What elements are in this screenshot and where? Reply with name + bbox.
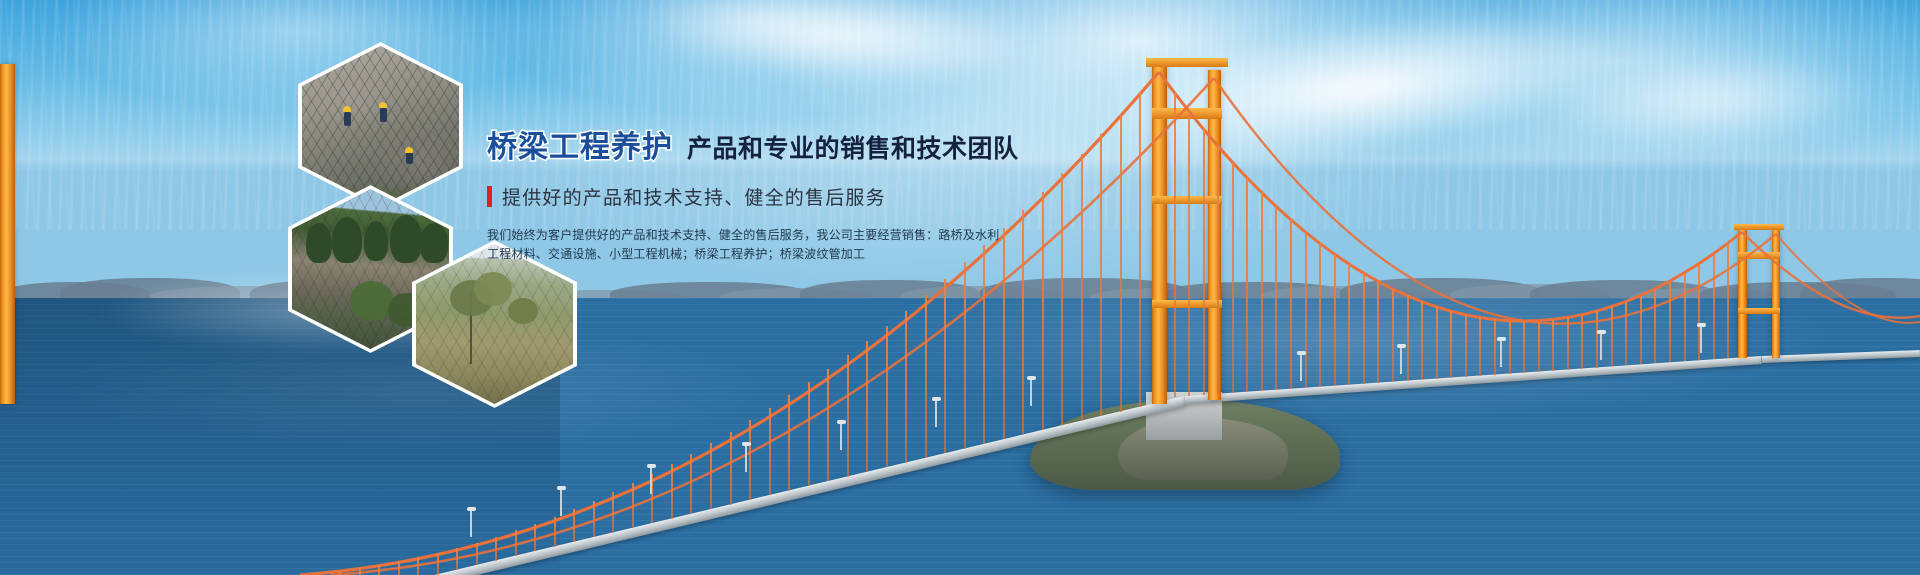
bridge-hanger — [1319, 243, 1321, 387]
bridge-hanger — [886, 326, 888, 467]
bridge-hanger — [1684, 273, 1686, 361]
bridge-hanger — [808, 382, 810, 486]
bridge-hanger — [476, 543, 478, 566]
bridge-hanger — [1509, 321, 1511, 374]
bridge-tower-far-top — [1734, 224, 1784, 230]
bridge-hanger — [1596, 311, 1598, 367]
bridge-hanger — [378, 565, 380, 575]
tree-canopy — [508, 298, 538, 324]
bridge-hanger — [1217, 145, 1219, 394]
bridge-hanger — [359, 568, 361, 575]
bridge-hanger — [1305, 231, 1307, 387]
bridge-tower-crossbeam — [1152, 108, 1222, 119]
bridge-hanger — [1363, 273, 1365, 384]
bridge-hanger — [1203, 128, 1205, 395]
hex-photo — [416, 244, 573, 404]
tree — [364, 221, 388, 261]
bridge-tower-top — [1146, 58, 1228, 67]
worker-figure — [380, 108, 387, 122]
headline-row: 桥梁工程养护 产品和专业的销售和技术团队 — [487, 122, 1107, 166]
subheadline-row: 提供好的产品和技术支持、健全的售后服务 — [487, 183, 1107, 210]
description-line-2: 工程材料、交通设施、小型工程机械；桥梁工程养护；桥梁波纹管加工 — [487, 245, 1107, 264]
bridge-hanger — [1377, 281, 1379, 383]
bridge-hanger — [1290, 219, 1292, 389]
bridge-tower-far — [1772, 230, 1780, 358]
grass-slope-mesh-photo — [416, 244, 573, 404]
bridge-hanger — [1261, 192, 1263, 391]
bridge-hanger — [944, 279, 946, 454]
bridge-hanger — [769, 408, 771, 495]
bridge-hanger — [1523, 321, 1525, 372]
bridge-lamp-post — [1400, 348, 1402, 374]
bridge-hanger — [1174, 92, 1176, 397]
bridge-hanger — [671, 464, 673, 519]
bridge-hanger — [1611, 307, 1613, 367]
bridge-lamp-post — [1300, 355, 1302, 381]
bridge-lamp-post — [935, 401, 937, 427]
tree — [420, 223, 448, 263]
hero-copy: 桥梁工程养护 产品和专业的销售和技术团队 提供好的产品和技术支持、健全的售后服务… — [487, 122, 1107, 264]
bridge-hanger — [1552, 320, 1554, 371]
bridge-hanger — [593, 501, 595, 537]
hex-photo — [302, 46, 459, 206]
bridge-hanger — [905, 311, 907, 463]
helmet-icon — [343, 106, 351, 112]
bridge-hanger — [730, 432, 732, 505]
bridge-hanger — [495, 537, 497, 561]
bridge-tower-main — [0, 64, 15, 404]
helmet-icon — [379, 102, 387, 108]
bridge-hanger — [632, 483, 634, 528]
bridge-hanger — [1436, 307, 1438, 379]
bridge-hanger — [437, 553, 439, 575]
bridge-lamp-post — [560, 490, 562, 516]
bridge-hanger — [964, 262, 966, 448]
bridge-hanger — [1669, 282, 1671, 363]
hero-banner: 桥梁工程养护 产品和专业的销售和技术团队 提供好的产品和技术支持、健全的售后服务… — [0, 0, 1920, 575]
tree-canopy — [474, 272, 512, 306]
bridge-lamp-post — [1030, 380, 1032, 406]
bridge-tower-far — [1738, 228, 1747, 358]
headline-secondary: 产品和专业的销售和技术团队 — [687, 129, 1019, 165]
bridge-hanger — [534, 524, 536, 552]
bridge-hanger — [827, 369, 829, 481]
worker-figure — [406, 152, 413, 164]
bridge-hanger — [1421, 301, 1423, 379]
bridge-lamp-post — [1600, 334, 1602, 360]
bridge-hanger — [1567, 318, 1569, 370]
bridge-hanger — [749, 420, 751, 500]
bridge-hanger — [1450, 311, 1452, 378]
tree — [390, 215, 422, 263]
headline-primary: 桥梁工程养护 — [487, 122, 673, 166]
description-paragraph: 我们始终为客户提供好的产品和技术支持、健全的售后服务，我公司主要经营销售：路桥及… — [487, 226, 1107, 264]
bridge-hanger — [573, 509, 575, 542]
bridge-tower-far-crossbeam — [1738, 252, 1780, 259]
description-line-1: 我们始终为客户提供好的产品和技术支持、健全的售后服务，我公司主要经营销售：路桥及… — [487, 226, 1107, 245]
bridge-hanger — [983, 245, 985, 444]
bridge-lamp-post — [745, 446, 747, 472]
bridge-tower-crossbeam — [1152, 300, 1222, 308]
bush — [350, 281, 394, 321]
worker-figure — [344, 112, 351, 126]
bridge-hanger — [1120, 114, 1122, 412]
bridge-hanger — [1727, 244, 1729, 359]
bridge-lamp-post — [470, 511, 472, 537]
bridge-hanger — [690, 454, 692, 514]
bridge-hanger — [1625, 302, 1627, 366]
bridge-hanger — [1581, 315, 1583, 369]
bridge-hanger — [1246, 177, 1248, 392]
bridge-hanger — [1232, 162, 1234, 393]
helmet-icon — [405, 147, 413, 153]
tree — [332, 217, 362, 263]
bridge-tower-crossbeam — [1152, 196, 1222, 204]
bridge-hanger — [1538, 321, 1540, 372]
bridge-hanger — [1275, 206, 1277, 390]
bridge-lamp-post — [650, 468, 652, 494]
bridge-hanger — [554, 517, 556, 547]
accent-bar — [487, 186, 492, 207]
bridge-hanger — [1713, 254, 1715, 359]
bridge-hanger — [1139, 93, 1141, 407]
bridge-hanger — [339, 571, 341, 575]
bridge-hanger — [1494, 319, 1496, 374]
bridge-hanger — [398, 561, 400, 575]
bridge-hanger — [866, 341, 868, 472]
bridge-deck — [1762, 350, 1920, 363]
rock-slope-mesh-install-photo — [302, 46, 459, 206]
bridge-hanger — [1392, 289, 1394, 382]
bridge-hanger — [1188, 110, 1190, 396]
bridge-hanger — [1334, 254, 1336, 386]
bridge-deck — [1185, 356, 1763, 404]
bridge-lamp-post — [1700, 327, 1702, 353]
subheadline-text: 提供好的产品和技术支持、健全的售后服务 — [502, 183, 886, 210]
bridge-hanger — [515, 530, 517, 555]
tree — [306, 223, 332, 263]
bridge-lamp-post — [840, 424, 842, 450]
bridge-hanger — [1407, 295, 1409, 380]
bridge-hanger — [1479, 317, 1481, 375]
bridge-hanger — [847, 355, 849, 477]
bridge-hanger — [925, 295, 927, 458]
bridge-hanger — [456, 548, 458, 570]
bridge-lamp-post — [1500, 341, 1502, 367]
thumbnail-rock-slope-mesh-install-photo[interactable] — [298, 42, 463, 210]
bridge-hanger — [417, 557, 419, 575]
hex-frame — [298, 42, 463, 210]
bridge-hanger — [1654, 289, 1656, 363]
bridge-hanger — [1348, 264, 1350, 385]
bridge-tower-far-crossbeam — [1738, 308, 1780, 314]
bridge-hanger — [788, 395, 790, 490]
bridge-hanger — [612, 492, 614, 532]
bridge-hanger — [1465, 315, 1467, 377]
bridge-hanger — [710, 443, 712, 509]
bridge-hanger — [1640, 296, 1642, 365]
